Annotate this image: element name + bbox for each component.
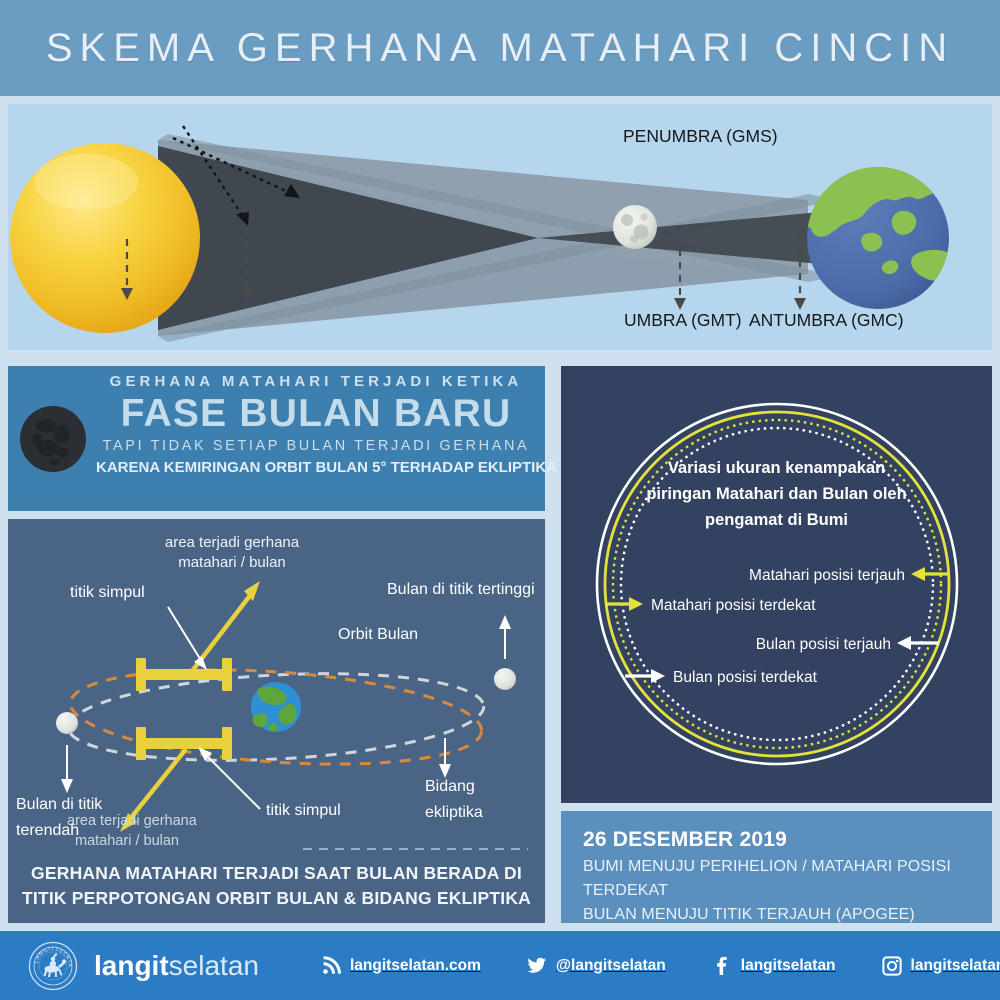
ring-bulan-terjauh xyxy=(621,428,933,740)
new-moon-icon xyxy=(20,406,86,472)
social-label-website: langitselatan.com xyxy=(350,957,481,975)
twitter-icon xyxy=(527,956,547,976)
event-date: 26 DESEMBER 2019 xyxy=(583,825,992,855)
moon-lowest-point xyxy=(56,712,78,734)
new-moon-text-block: GERHANA MATAHARI TERJADI KETIKA FASE BUL… xyxy=(96,372,536,479)
moon-highest-point xyxy=(494,668,516,690)
label-area-top-l1: area terjadi gerhana xyxy=(165,534,300,551)
newmoon-line3: TAPI TIDAK SETIAP BULAN TERJADI GERHANA xyxy=(96,435,536,457)
eclipse-geometry-panel: PENUMBRA (GMS) UMBRA (GMT) ANTUMBRA (GMC… xyxy=(8,104,992,350)
instagram-icon xyxy=(882,956,902,976)
label-antumbra: ANTUMBRA (GMC) xyxy=(749,310,904,330)
orbit-caption: GERHANA MATAHARI TERJADI SAAT BULAN BERA… xyxy=(8,861,545,911)
label-node-top: titik simpul xyxy=(70,584,145,601)
label-matahari-terdekat: Matahari posisi terdekat xyxy=(651,597,816,614)
ring-matahari-terdekat xyxy=(605,412,949,756)
rss-icon xyxy=(321,956,341,976)
label-orbit-bulan: Orbit Bulan xyxy=(338,626,418,643)
label-area-top-l2: matahari / bulan xyxy=(178,554,286,571)
apparent-size-svg: Matahari posisi terjauh Matahari posisi … xyxy=(561,366,992,803)
seal-rider-figure xyxy=(44,953,67,977)
page-header: SKEMA GERHANA MATAHARI CINCIN xyxy=(0,0,1000,96)
facebook-icon xyxy=(712,956,732,976)
event-note-l1: BUMI MENUJU PERIHELION / MATAHARI POSISI… xyxy=(583,855,992,903)
event-note-l2: BULAN MENUJU TITIK TERJAUH (APOGEE) xyxy=(583,903,992,927)
orbit-caption-l2: TITIK PERPOTONGAN ORBIT BULAN & BIDANG E… xyxy=(8,886,545,911)
social-links: langitselatan.com @langitselatan langits… xyxy=(321,956,1000,976)
ring-matahari-terjauh xyxy=(613,420,941,748)
newmoon-line4: KARENA KEMIRINGAN ORBIT BULAN 5° TERHADA… xyxy=(96,457,536,479)
label-moon-lowest-l2: terendah xyxy=(16,822,79,839)
footer: LANGITSELATAN langitselatan xyxy=(0,931,1000,1000)
earth-sphere xyxy=(802,161,959,309)
label-node-bottom: titik simpul xyxy=(266,802,341,819)
label-ecliptic-l2: ekliptika xyxy=(425,804,483,821)
label-moon-highest: Bulan di titik tertinggi xyxy=(387,581,535,598)
brand-block: LANGITSELATAN langitselatan xyxy=(28,941,259,991)
node-top-leader xyxy=(168,607,207,670)
moon-high-leader xyxy=(499,615,511,659)
label-area-bottom-l2: matahari / bulan xyxy=(75,833,179,849)
label-ecliptic-l1: Bidang xyxy=(425,778,475,795)
moon-sphere xyxy=(613,205,657,249)
social-label-instagram: langitselatanmedia xyxy=(911,957,1000,975)
moon-orbit-panel: area terjadi gerhana matahari / bulan ti… xyxy=(8,519,545,923)
ring-bulan-terdekat xyxy=(597,404,957,764)
ecliptic-leader xyxy=(439,738,451,778)
node-marker-top xyxy=(136,658,232,691)
event-date-panel: 26 DESEMBER 2019 BUMI MENUJU PERIHELION … xyxy=(561,811,992,923)
page-title: SKEMA GERHANA MATAHARI CINCIN xyxy=(46,26,954,71)
social-label-twitter: @langitselatan xyxy=(556,957,666,975)
brand-light: selatan xyxy=(169,950,259,981)
brand-bold: langit xyxy=(94,950,169,981)
social-label-facebook: langitselatan xyxy=(741,957,836,975)
label-penumbra: PENUMBRA (GMS) xyxy=(623,126,778,146)
newmoon-line1: GERHANA MATAHARI TERJADI KETIKA xyxy=(96,372,536,392)
label-bulan-terdekat: Bulan posisi terdekat xyxy=(673,669,818,686)
label-matahari-terjauh: Matahari posisi terjauh xyxy=(749,567,905,584)
social-link-twitter[interactable]: @langitselatan xyxy=(527,956,666,976)
brand-wordmark: langitselatan xyxy=(94,950,259,982)
moon-low-leader xyxy=(61,745,73,793)
label-moon-lowest-l1: Bulan di titik xyxy=(16,796,103,813)
langitselatan-seal-logo: LANGITSELATAN xyxy=(28,941,78,991)
social-link-facebook[interactable]: langitselatan xyxy=(712,956,836,976)
arrow-matahari-terdekat xyxy=(605,597,643,611)
newmoon-headline: FASE BULAN BARU xyxy=(96,392,536,435)
earth-center-icon xyxy=(251,682,301,732)
eclipse-geometry-svg: PENUMBRA (GMS) UMBRA (GMT) ANTUMBRA (GMC… xyxy=(8,104,992,350)
arrow-matahari-terjauh xyxy=(911,567,949,581)
social-link-instagram[interactable]: langitselatanmedia xyxy=(882,956,1000,976)
label-bulan-terjauh: Bulan posisi terjauh xyxy=(756,636,891,653)
label-area-bottom-l1: area terjadi gerhana xyxy=(67,813,198,829)
sun-highlight xyxy=(34,154,138,210)
orbit-caption-l1: GERHANA MATAHARI TERJADI SAAT BULAN BERA… xyxy=(8,861,545,886)
label-umbra: UMBRA (GMT) xyxy=(624,310,742,330)
social-link-website[interactable]: langitselatan.com xyxy=(321,956,481,976)
apparent-size-panel: Matahari posisi terjauh Matahari posisi … xyxy=(561,366,992,803)
